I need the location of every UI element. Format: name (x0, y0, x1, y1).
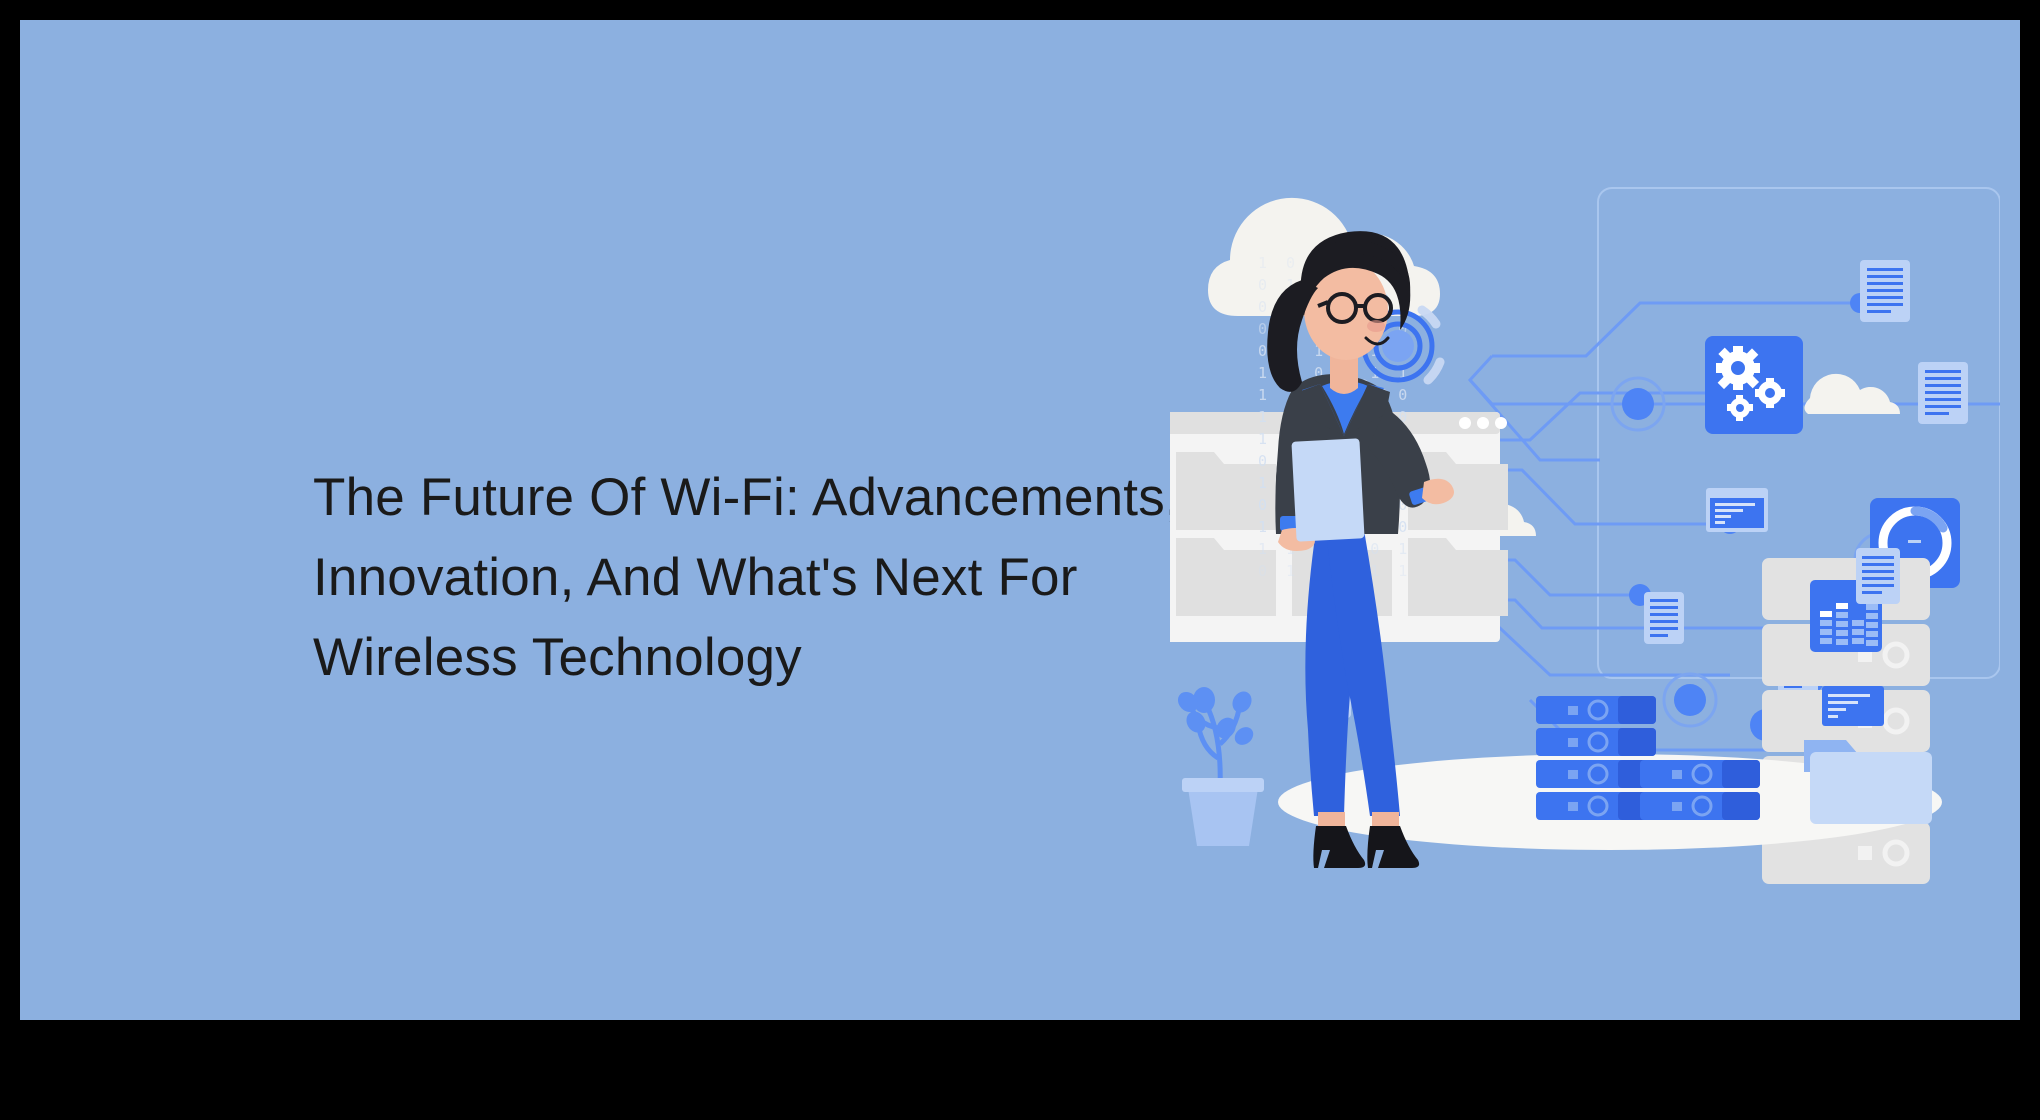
hero-illustration: 1 0 1 1 0 1 0 1 0 0 1 1 0 1 1 0 0 0 0 0 … (1170, 140, 2000, 900)
gear-settings-card (1705, 336, 1803, 434)
tablet-device (1291, 438, 1364, 541)
document-sheet (1860, 260, 1910, 322)
page-title: The Future Of Wi-Fi: Advancements, Innov… (313, 458, 1213, 698)
slide-frame: The Future Of Wi-Fi: Advancements, Innov… (20, 20, 2020, 1020)
document-sheet (1856, 548, 1900, 604)
small-cloud (1804, 374, 1900, 414)
terminal-window-card (1822, 686, 1884, 726)
folder-blue (1804, 740, 1932, 824)
document-sheet (1644, 592, 1684, 644)
network-node-dot (1674, 684, 1706, 716)
cheek (1367, 320, 1385, 332)
potted-plant (1174, 687, 1264, 846)
document-sheet (1918, 362, 1968, 424)
network-node-dot (1622, 388, 1654, 420)
terminal-window-card (1706, 488, 1768, 532)
